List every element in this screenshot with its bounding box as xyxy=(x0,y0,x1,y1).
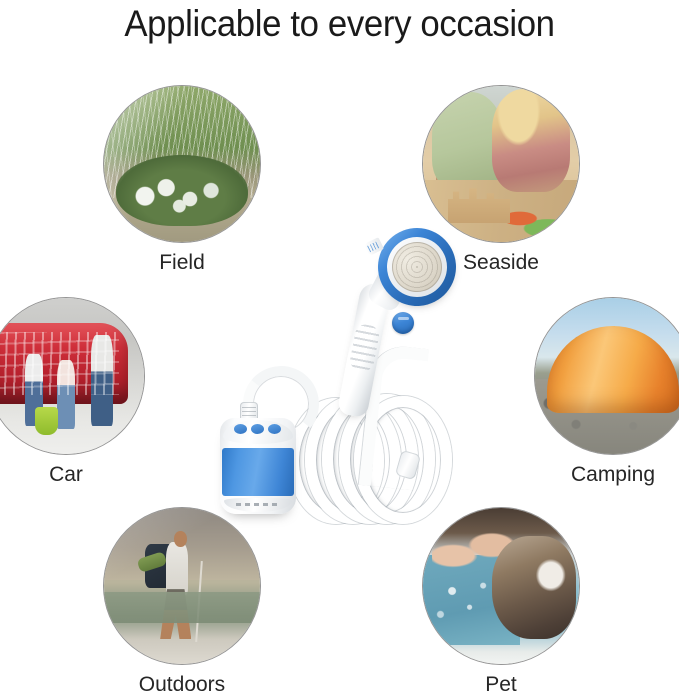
car-people-group xyxy=(0,298,144,454)
occasion-label-pet: Pet xyxy=(421,672,581,694)
pump-button-3[interactable] xyxy=(268,424,281,434)
handset-power-button[interactable] xyxy=(392,312,414,334)
pump-button-2[interactable] xyxy=(251,424,264,434)
pet-washing-hands xyxy=(432,524,519,577)
occasion-photo-outdoors xyxy=(104,508,260,664)
car-person-right xyxy=(91,335,113,425)
pump-button-1[interactable] xyxy=(234,424,247,434)
occasion-label-camping: Camping xyxy=(533,462,679,487)
outdoors-scene-art xyxy=(104,508,260,664)
pet-scene-art xyxy=(423,508,579,664)
car-scene-art xyxy=(0,298,144,454)
tent-seam-center xyxy=(613,326,615,413)
hiker-trekking-pole xyxy=(195,561,203,642)
page-title: Applicable to every occasion xyxy=(20,2,658,46)
pump-blue-band xyxy=(222,448,294,496)
pump-base xyxy=(224,498,292,512)
outdoors-hiker xyxy=(104,508,260,664)
occasion-photo-pet xyxy=(423,508,579,664)
occasion-label-car: Car xyxy=(0,462,146,487)
hiker-legs xyxy=(160,589,191,639)
handset-grip-ridges xyxy=(348,323,380,373)
occasion-photo-camping xyxy=(535,298,679,454)
camping-scene-art xyxy=(535,298,679,454)
car-person-center xyxy=(57,360,76,429)
seaside-scene-art xyxy=(423,86,579,242)
hiker-torso xyxy=(166,542,188,595)
camping-tent-seams xyxy=(547,326,678,413)
occasion-label-outdoors: Outdoors xyxy=(102,672,262,694)
infographic-page: Applicable to every occasion Field Seasi… xyxy=(0,0,679,694)
shower-head-nozzle-face xyxy=(386,236,448,298)
product-pump-unit xyxy=(220,418,296,514)
car-bucket xyxy=(35,407,58,435)
field-scene-art xyxy=(104,86,260,242)
occasion-label-field: Field xyxy=(102,250,262,275)
hiker-head xyxy=(174,531,186,547)
tent-seam-left xyxy=(572,326,594,413)
occasion-photo-field xyxy=(104,86,260,242)
tent-seam-right xyxy=(635,326,657,413)
shower-head-rim xyxy=(380,230,454,304)
occasion-photo-car xyxy=(0,298,144,454)
camping-tent-entrance xyxy=(554,354,591,413)
occasion-photo-seaside xyxy=(423,86,579,242)
